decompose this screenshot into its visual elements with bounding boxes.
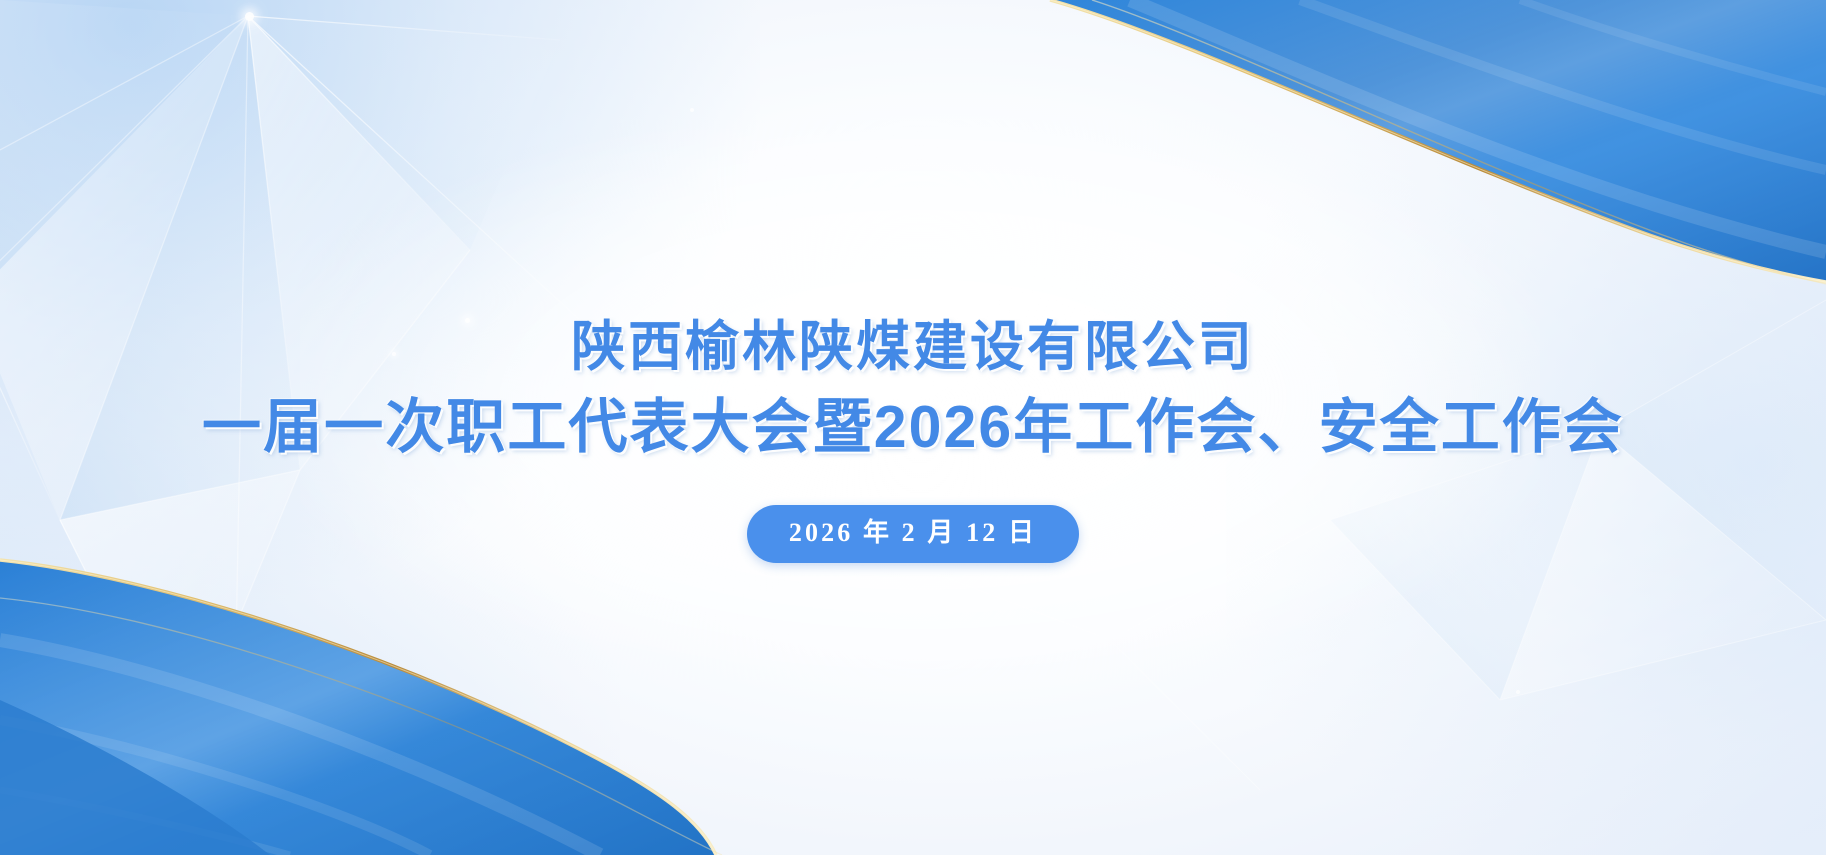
banner-title-line-2: 一届一次职工代表大会暨2026年工作会、安全工作会 <box>202 393 1624 461</box>
event-banner: 陕西榆林陕煤建设有限公司 一届一次职工代表大会暨2026年工作会、安全工作会 2… <box>0 0 1826 855</box>
event-date-badge: 2026 年 2 月 12 日 <box>747 505 1079 562</box>
banner-title-line-1: 陕西榆林陕煤建设有限公司 <box>571 316 1255 379</box>
title-block: 陕西榆林陕煤建设有限公司 一届一次职工代表大会暨2026年工作会、安全工作会 <box>0 316 1826 461</box>
banner-content: 陕西榆林陕煤建设有限公司 一届一次职工代表大会暨2026年工作会、安全工作会 2… <box>0 0 1826 855</box>
